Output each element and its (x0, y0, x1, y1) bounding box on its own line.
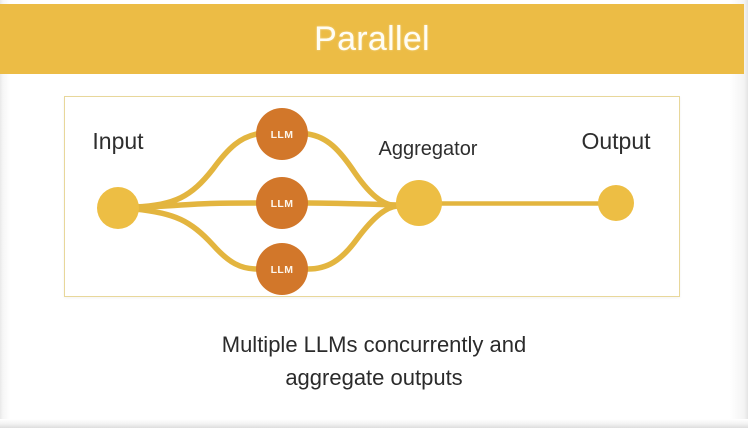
diagram-card: LLM LLM LLM Input Aggregator Output (64, 96, 680, 297)
label-input: Input (92, 128, 144, 154)
edge-llm-3-to-aggregator (308, 206, 397, 269)
header-bar: Parallel (0, 4, 744, 74)
parallel-workflow-diagram: LLM LLM LLM Input Aggregator Output (65, 97, 681, 298)
edge-group (135, 134, 599, 269)
edge-llm-2-to-aggregator (308, 203, 397, 205)
node-llm-1[interactable]: LLM (256, 108, 308, 160)
label-output: Output (581, 128, 651, 154)
label-aggregator: Aggregator (379, 138, 478, 160)
edge-input-to-llm-1 (135, 134, 257, 207)
caption-line-2: aggregate outputs (0, 361, 748, 394)
node-llm-2-label: LLM (271, 198, 294, 210)
node-llm-3[interactable]: LLM (256, 243, 308, 295)
page-bottom-edge (0, 419, 748, 428)
node-input[interactable] (97, 187, 139, 229)
node-llm-1-label: LLM (271, 129, 294, 141)
caption: Multiple LLMs concurrently and aggregate… (0, 328, 748, 394)
node-llm-3-label: LLM (271, 264, 294, 276)
edge-input-to-llm-3 (135, 209, 257, 269)
node-llm-2[interactable]: LLM (256, 177, 308, 229)
node-aggregator[interactable] (396, 180, 442, 226)
caption-line-1: Multiple LLMs concurrently and (0, 328, 748, 361)
page-title: Parallel (314, 22, 430, 56)
node-output[interactable] (598, 185, 634, 221)
slide-root: Parallel (0, 0, 748, 428)
